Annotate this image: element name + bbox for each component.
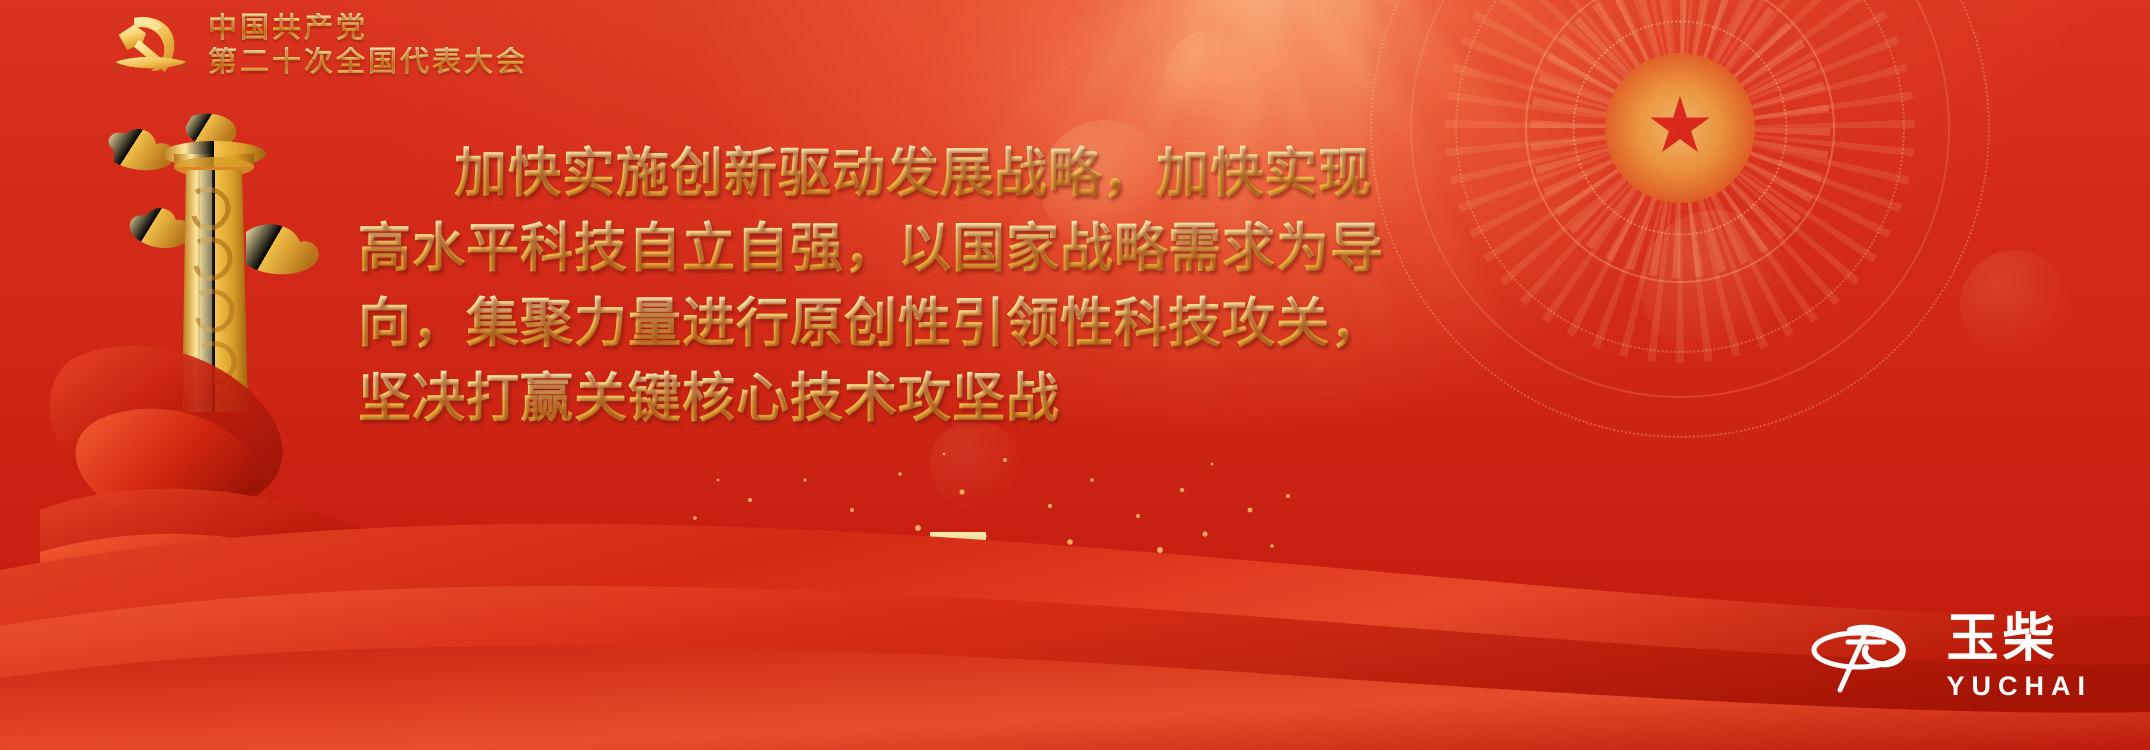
- target-icon: [1342, 622, 1378, 658]
- slogan-line-4: 坚决打赢关键核心技术攻坚战: [358, 365, 1658, 434]
- wind-turbine-icon: [678, 530, 762, 674]
- congress-logo: 中国共产党 第二十次全国代表大会: [108, 6, 528, 84]
- congress-logo-line2: 第二十次全国代表大会: [208, 47, 528, 77]
- bokeh-circle: [1165, 30, 1255, 120]
- yuchai-brand-logo: 玉柴 YUCHAI: [1810, 614, 2092, 700]
- slogan-line-1: 加快实施创新驱动发展战略，加快实现: [358, 140, 1658, 209]
- slogan-line-2: 高水平科技自立自强，以国家战略需求为导: [358, 215, 1658, 284]
- golden-city-skyline: [620, 530, 1180, 690]
- bar-chart-icon: [1416, 608, 1452, 656]
- congress-banner: 中国共产党 第二十次全国代表大会: [0, 0, 2150, 750]
- slogan-line-3: 向，集聚力量进行原创性引领性科技攻关，: [358, 290, 1658, 359]
- yuchai-swoosh-mark: [1810, 620, 1928, 694]
- slogan-text-block: 加快实施创新驱动发展战略，加快实现 高水平科技自立自强，以国家战略需求为导 向，…: [358, 140, 1658, 440]
- huabiao-ornamental-column: [96, 112, 346, 442]
- brand-name-en: YUCHAI: [1946, 673, 2092, 700]
- congress-logo-line1: 中国共产党: [208, 13, 528, 43]
- brand-name-cn: 玉柴: [1946, 614, 2058, 666]
- five-point-star-icon: [1649, 96, 1711, 158]
- gear-icon: [1258, 613, 1312, 667]
- bottom-silk-wave: [0, 420, 2150, 750]
- bokeh-circle: [1960, 250, 2070, 360]
- tech-icon-row: [1180, 602, 1460, 672]
- bokeh-circle: [1640, 210, 1790, 360]
- hammer-and-sickle-emblem: [108, 6, 194, 84]
- gold-sparkle-particles: [600, 440, 1300, 600]
- atom-icon: [1186, 614, 1234, 666]
